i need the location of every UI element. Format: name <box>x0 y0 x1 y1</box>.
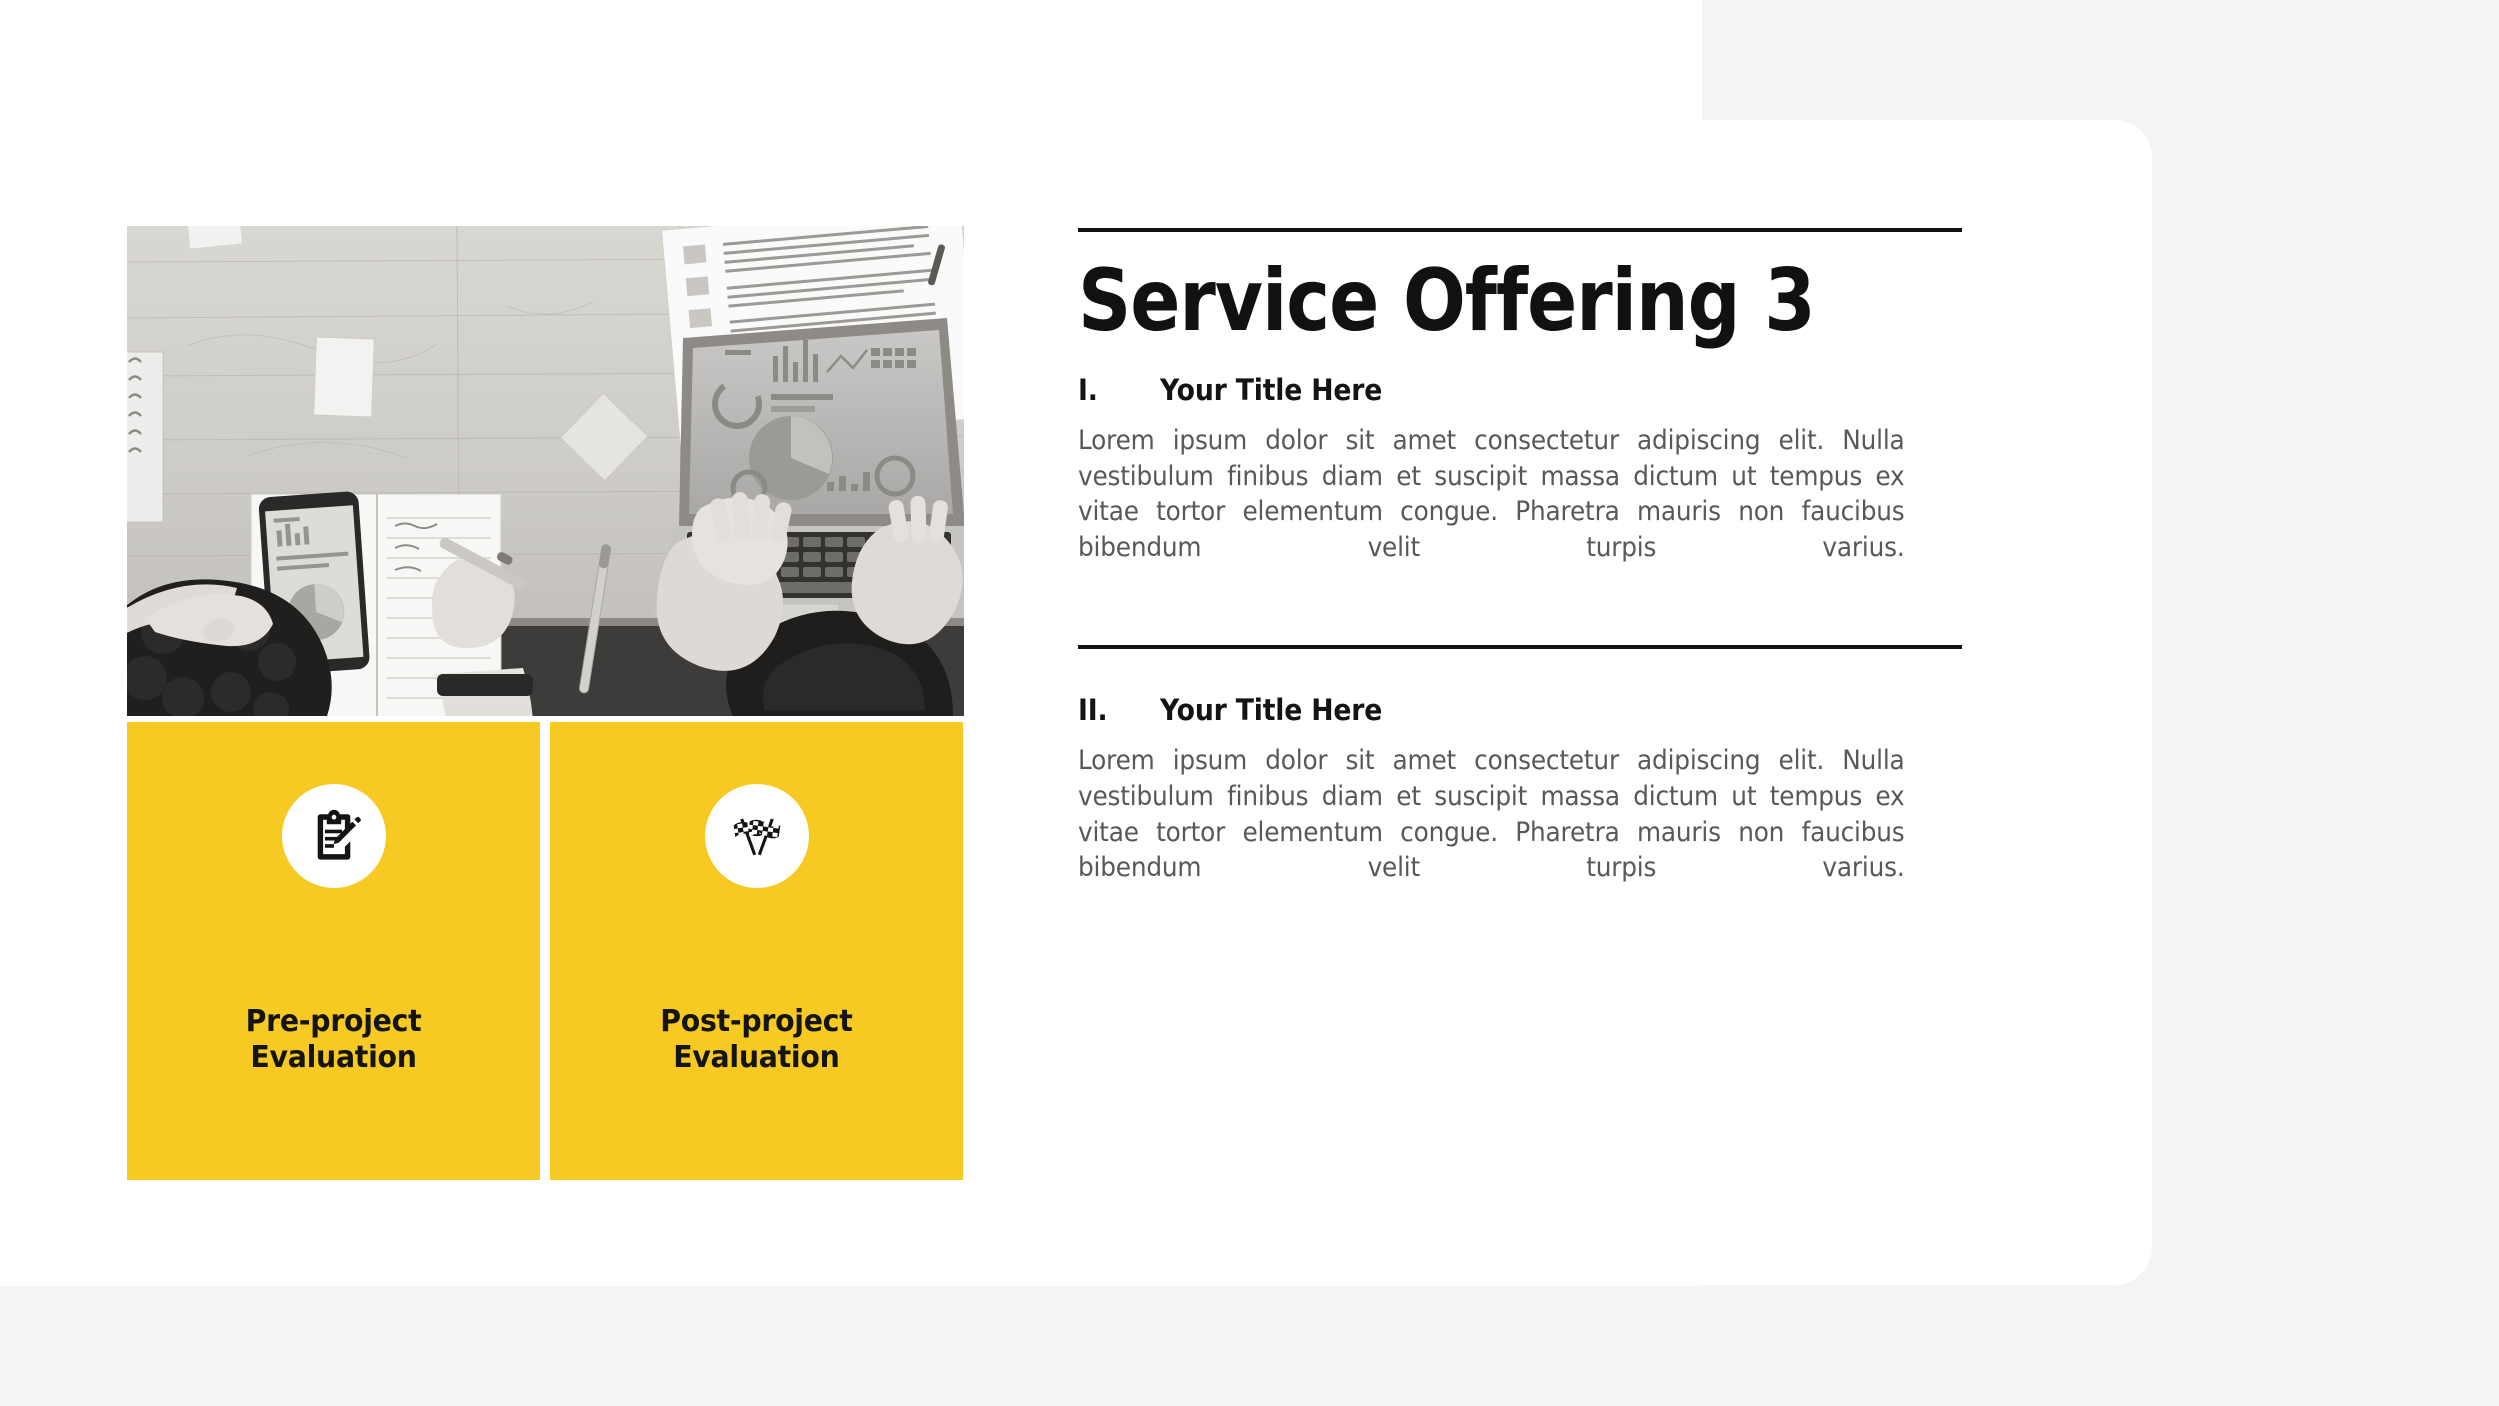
tile-label-line1: Post-project <box>660 1004 852 1040</box>
section-two: II. Your Title Here Lorem ipsum dolor si… <box>1078 693 1962 921</box>
page-title: Service Offering 3 <box>1078 256 1838 347</box>
section-one: I. Your Title Here Lorem ipsum dolor sit… <box>1078 373 1962 601</box>
checkered-flags-glyph <box>728 807 786 865</box>
section-one-numeral: I. <box>1078 373 1153 407</box>
section-divider-rule <box>1078 645 1962 649</box>
section-two-numeral: II. <box>1078 693 1153 727</box>
title-top-rule <box>1078 228 1962 232</box>
team-photo <box>127 226 964 716</box>
section-two-heading: II. Your Title Here <box>1078 693 1962 727</box>
left-column: Pre-project Evaluation <box>127 226 964 1180</box>
tile-label: Post-project Evaluation <box>660 1004 852 1076</box>
section-one-body: Lorem ipsum dolor sit amet consectetur a… <box>1078 423 1905 601</box>
clipboard-pencil-icon <box>282 784 386 888</box>
checkered-flags-icon <box>705 784 809 888</box>
tile-post-project-evaluation[interactable]: Post-project Evaluation <box>550 722 963 1180</box>
section-one-heading: I. Your Title Here <box>1078 373 1962 407</box>
clipboard-pencil-glyph <box>305 807 363 865</box>
slide-canvas: Pre-project Evaluation <box>0 0 2499 1406</box>
tile-label-line2: Evaluation <box>246 1040 422 1076</box>
tile-label: Pre-project Evaluation <box>246 1004 422 1076</box>
background-panel-bottom <box>0 1286 2499 1406</box>
section-one-title: Your Title Here <box>1160 373 1382 407</box>
right-column: Service Offering 3 I. Your Title Here Lo… <box>1078 228 1962 948</box>
team-photo-illustration <box>127 226 964 716</box>
tile-label-line2: Evaluation <box>660 1040 852 1076</box>
tile-pre-project-evaluation[interactable]: Pre-project Evaluation <box>127 722 540 1180</box>
section-two-title: Your Title Here <box>1160 693 1382 727</box>
evaluation-tiles: Pre-project Evaluation <box>127 722 964 1180</box>
section-two-body: Lorem ipsum dolor sit amet consectetur a… <box>1078 743 1905 921</box>
tile-label-line1: Pre-project <box>246 1004 422 1040</box>
